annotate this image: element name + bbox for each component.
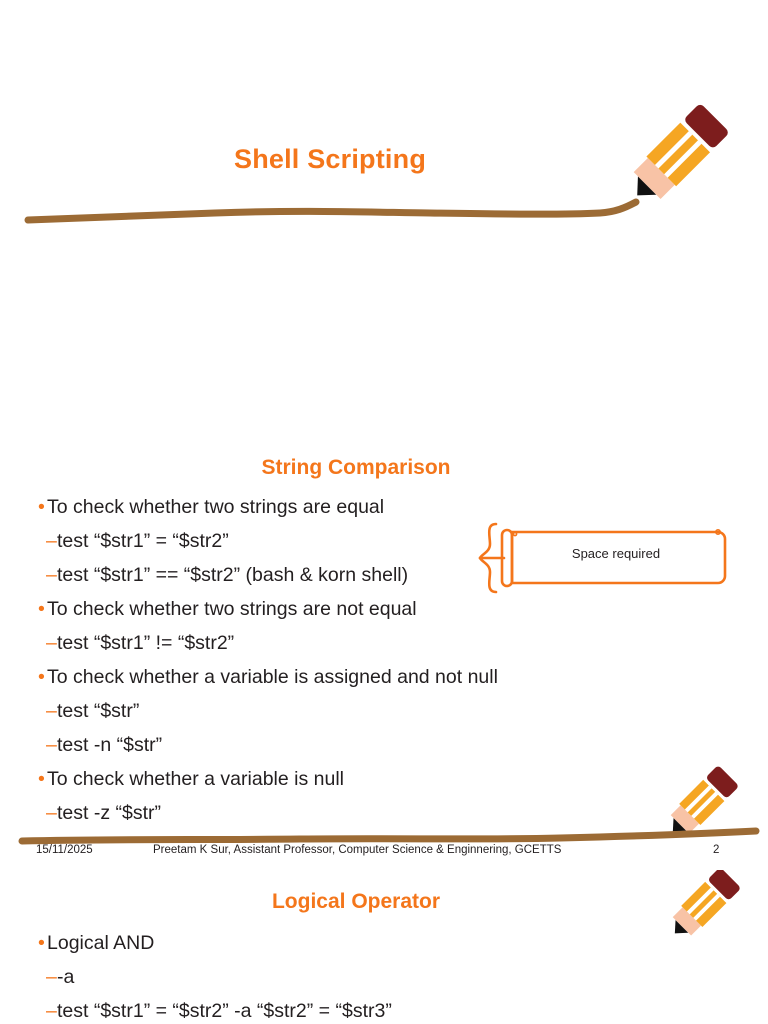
string-bullet-item-label: To check whether a variable is null [47, 770, 344, 790]
logical-bullet-item: –-a [38, 968, 738, 1002]
string-bullet-item-label: test “$str” [57, 702, 139, 722]
bullet-dot-icon: • [38, 668, 47, 688]
footer-date: 15/11/2025 [36, 844, 93, 856]
bullet-dot-icon: • [38, 498, 47, 518]
section-title-logical-operator: Logical Operator [0, 890, 712, 914]
footer-page-number: 2 [713, 844, 719, 856]
pencil-icon [618, 98, 730, 213]
bullet-dash-icon: – [46, 634, 57, 654]
logical-operator-bullet-list: •Logical AND–-a–test “$str1” = “$str2” -… [38, 934, 738, 1024]
string-bullet-item: •To check whether a variable is null [38, 770, 738, 804]
logical-bullet-item-label: test “$str1” = “$str2” -a “$str2” = “$st… [57, 1002, 392, 1022]
logical-bullet-item-label: Logical AND [47, 934, 154, 954]
slide-footer: 15/11/2025 Preetam K Sur, Assistant Prof… [0, 844, 768, 862]
string-bullet-item-label: test “$str1” = “$str2” [57, 532, 229, 552]
string-bullet-item-label: test -n “$str” [57, 736, 162, 756]
string-bullet-item-label: test “$str1” != “$str2” [57, 634, 234, 654]
string-bullet-item: •To check whether two strings are not eq… [38, 600, 738, 634]
bullet-dash-icon: – [46, 736, 57, 756]
logical-bullet-item: –test “$str1” = “$str2” -a “$str2” = “$s… [38, 1002, 738, 1024]
logical-bullet-item-label: -a [57, 968, 74, 988]
page-title: Shell Scripting [0, 144, 660, 175]
bullet-dot-icon: • [38, 600, 47, 620]
bullet-dash-icon: – [46, 532, 57, 552]
section-title-string-comparison: String Comparison [0, 456, 712, 480]
string-bullet-item: –test “$str” [38, 702, 738, 736]
bullet-dash-icon: – [46, 702, 57, 722]
bullet-dash-icon: – [46, 566, 57, 586]
bullet-dash-icon: – [46, 804, 57, 824]
bullet-dash-icon: – [46, 968, 57, 988]
bullet-dot-icon: • [38, 770, 47, 790]
string-bullet-item-label: To check whether a variable is assigned … [47, 668, 498, 688]
string-bullet-item-label: To check whether two strings are equal [47, 498, 384, 518]
string-bullet-item: –test “$str1” != “$str2” [38, 634, 738, 668]
string-bullet-item-label: test “$str1” == “$str2” (bash & korn she… [57, 566, 408, 586]
bullet-dash-icon: – [46, 1002, 57, 1022]
footer-attribution: Preetam K Sur, Assistant Professor, Comp… [153, 844, 561, 856]
title-slide: Shell Scripting [0, 0, 768, 330]
string-bullet-item-label: test -z “$str” [57, 804, 161, 824]
space-required-callout: Space required [478, 522, 728, 596]
logical-operator-slide: Logical Operator •Logical AND–-a–test “$… [0, 870, 768, 1024]
logical-bullet-item: •Logical AND [38, 934, 738, 968]
string-bullet-item: –test -n “$str” [38, 736, 738, 770]
bullet-dot-icon: • [38, 934, 47, 954]
string-bullet-item-label: To check whether two strings are not equ… [47, 600, 417, 620]
callout-label: Space required [512, 546, 720, 561]
string-bullet-item: •To check whether a variable is assigned… [38, 668, 738, 702]
